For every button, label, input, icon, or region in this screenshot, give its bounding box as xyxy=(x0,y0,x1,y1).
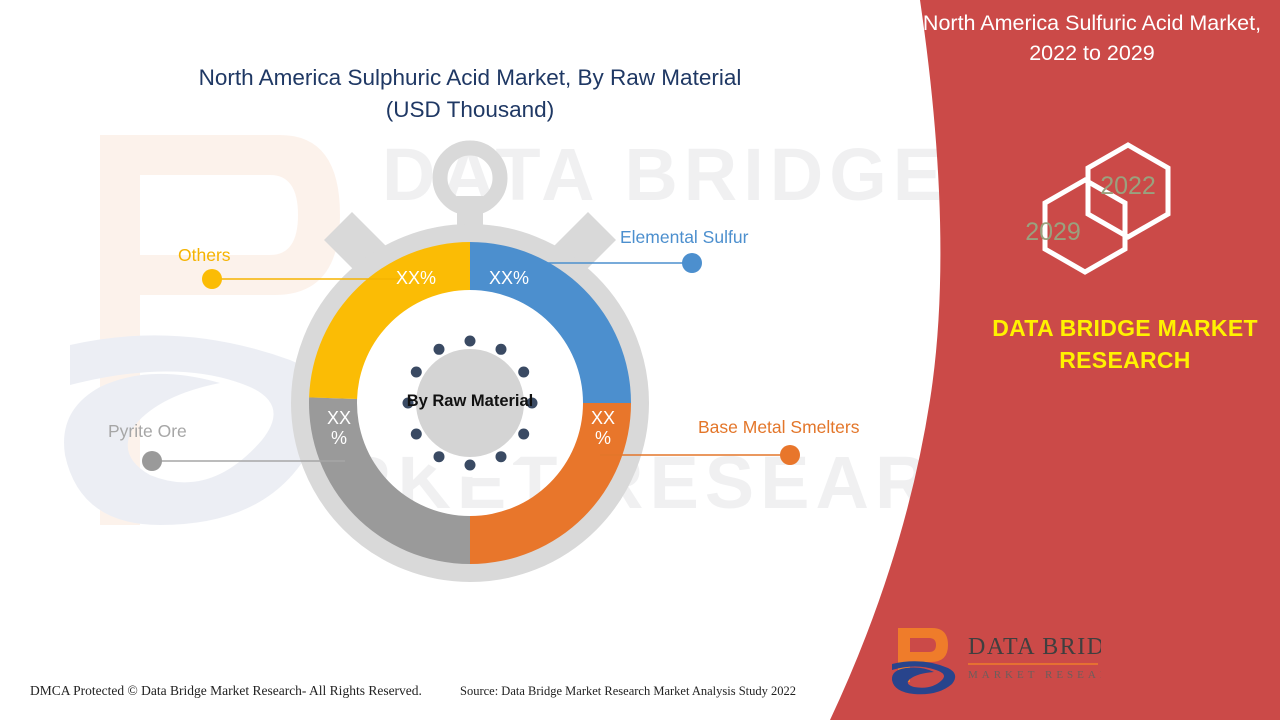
panel-title: North America Sulfuric Acid Market, 2022… xyxy=(902,8,1280,68)
panel-brand-line-2: RESEARCH xyxy=(960,344,1280,376)
segment-label-elemental-sulfur: XX% xyxy=(478,268,540,288)
connector-dot-pyrite[interactable] xyxy=(142,451,162,471)
footer-dmca-notice: DMCA Protected © Data Bridge Market Rese… xyxy=(30,683,422,699)
hexagon-label-2029: 2029 xyxy=(1003,218,1103,247)
panel-title-line-1: North America Sulfuric Acid Market, xyxy=(902,8,1280,38)
segment-label-pyrite-ore: XX % xyxy=(316,408,362,448)
panel-title-line-2: 2022 to 2029 xyxy=(902,38,1280,68)
connector-dot-others[interactable] xyxy=(202,269,222,289)
hexagon-label-2022: 2022 xyxy=(1078,172,1178,201)
callout-label-others: Others xyxy=(178,245,231,266)
segment-label-base-number: XX xyxy=(591,408,615,428)
panel-brand-name: DATA BRIDGE MARKET RESEARCH xyxy=(960,312,1280,376)
hexagon-pair-graphic xyxy=(980,140,1190,285)
connector-dot-sulfur[interactable] xyxy=(682,253,702,273)
logo-text-data-bridge: DATA BRIDGE xyxy=(968,634,1101,660)
footer-source-note: Source: Data Bridge Market Research Mark… xyxy=(460,684,796,699)
panel-brand-line-1: DATA BRIDGE MARKET xyxy=(960,312,1280,344)
segment-label-pyrite-number: XX xyxy=(327,408,351,428)
segment-label-pyrite-symbol: % xyxy=(331,428,347,448)
segment-label-base-metal: XX % xyxy=(580,408,626,448)
segment-label-others: XX% xyxy=(385,268,447,288)
donut-center-label: By Raw Material xyxy=(385,392,555,411)
data-bridge-logo: DATA BRIDGE MARKET RESEARCH xyxy=(886,620,1101,696)
logo-text-market-research: MARKET RESEARCH xyxy=(968,669,1101,681)
infographic-root: DATA BRIDGE RKET RESEARCH North America … xyxy=(0,0,1280,720)
data-bridge-b-mark-icon xyxy=(892,628,955,694)
callout-label-pyrite-ore: Pyrite Ore xyxy=(108,421,187,442)
connector-dot-base[interactable] xyxy=(780,445,800,465)
callout-label-elemental-sulfur: Elemental Sulfur xyxy=(620,227,748,248)
segment-label-base-symbol: % xyxy=(595,428,611,448)
